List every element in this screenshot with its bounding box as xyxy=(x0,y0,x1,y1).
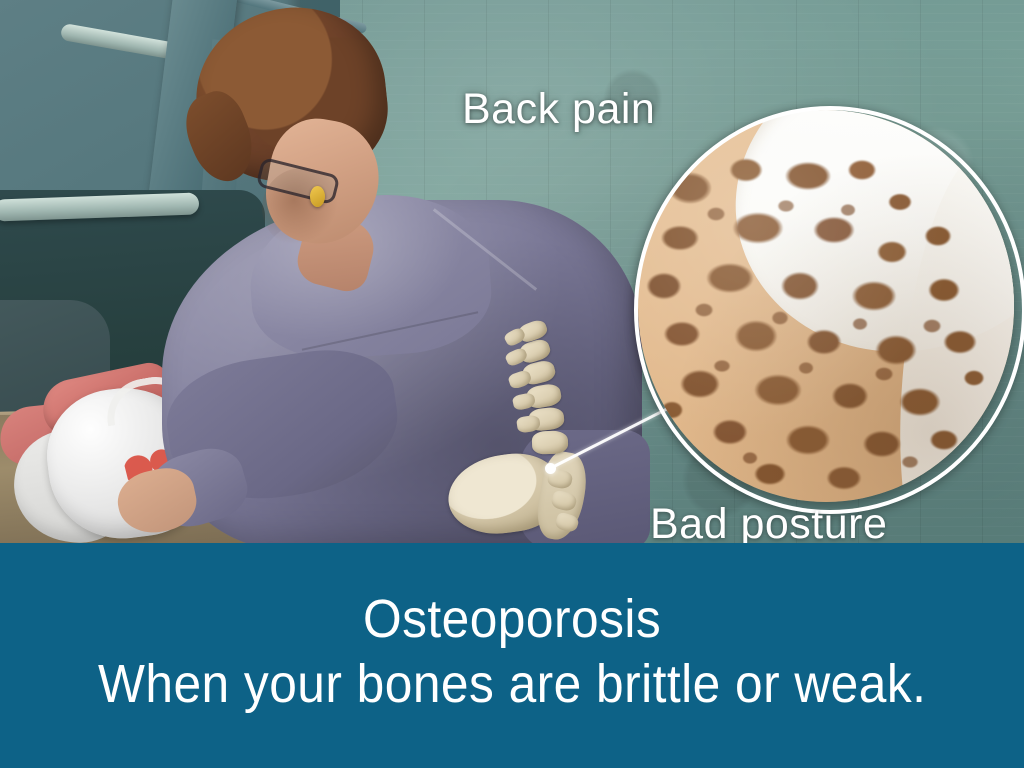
earring xyxy=(310,186,325,207)
label-back-pain: Back pain xyxy=(462,85,655,134)
label-clipped-bottom: Bad posture xyxy=(650,500,887,545)
photo-illustration: Back pain Bad posture xyxy=(0,0,1024,545)
slide-root: Back pain Bad posture Osteoporosis When … xyxy=(0,0,1024,768)
trabecular-pores-detail xyxy=(638,110,1014,502)
caption-band: Osteoporosis When your bones are brittle… xyxy=(0,543,1024,768)
caption-subtitle: When your bones are brittle or weak. xyxy=(98,656,926,713)
callout-anchor-dot xyxy=(545,463,556,474)
magnified-bone-circle xyxy=(638,110,1014,502)
vertebra xyxy=(532,430,569,454)
caption-title: Osteoporosis xyxy=(363,591,661,648)
